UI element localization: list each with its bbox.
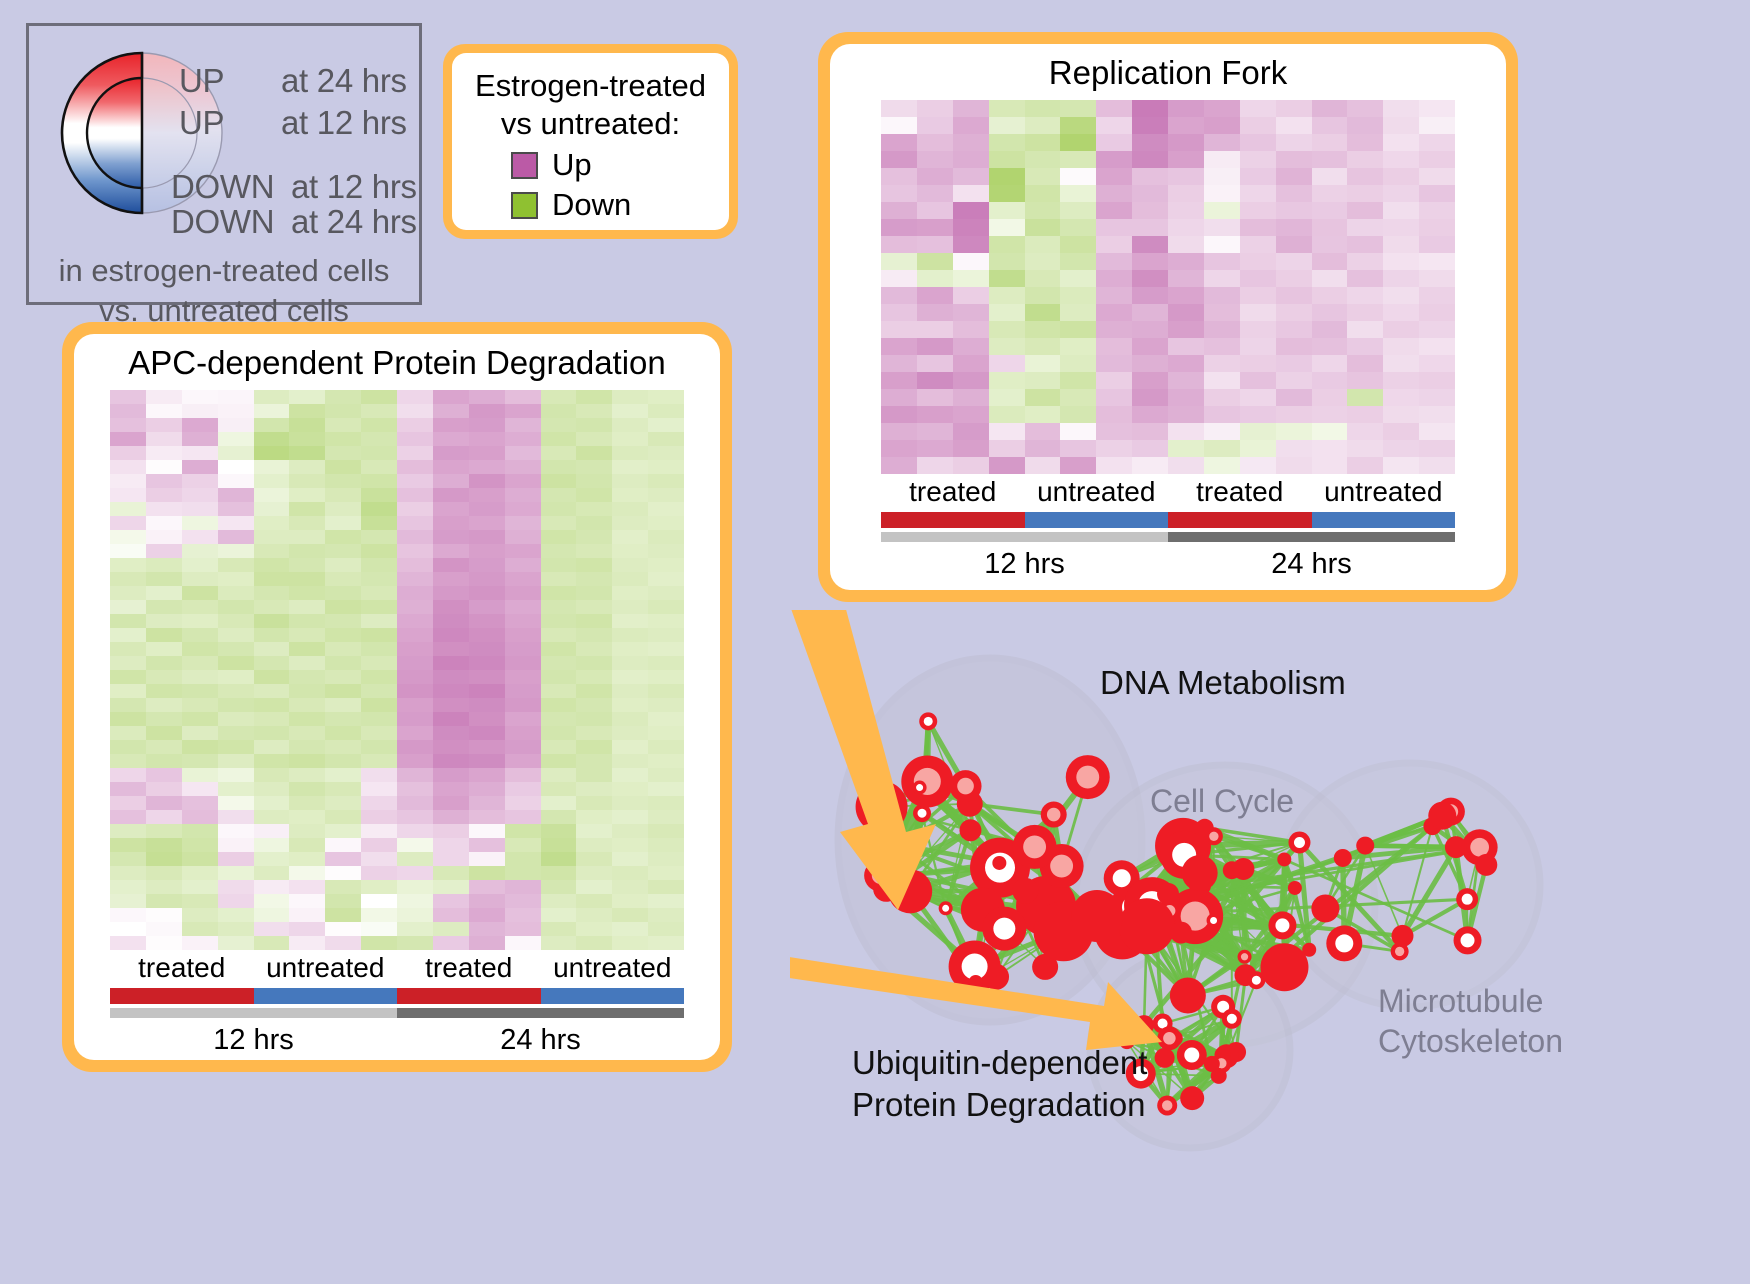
heatmap-cell [1204, 270, 1240, 287]
heatmap-cell [1025, 406, 1061, 423]
pathway-network-diagram [790, 610, 1750, 1279]
heatmap-cell [146, 390, 182, 404]
heatmap-cell [146, 474, 182, 488]
heatmap-cell [541, 502, 577, 516]
heatmap-cell [1276, 202, 1312, 219]
heatmap-cell [325, 530, 361, 544]
heatmap-cell [648, 446, 684, 460]
group-color-segment [254, 988, 398, 1004]
heatmap-cell [1347, 355, 1383, 372]
heatmap-cell [612, 488, 648, 502]
heatmap-cell [289, 740, 325, 754]
heatmap-cell [433, 488, 469, 502]
heatmap-cell [1096, 457, 1132, 474]
heatmap-cell [505, 796, 541, 810]
heatmap-cell [254, 642, 290, 656]
heatmap-cell [110, 810, 146, 824]
heatmap-cell [325, 740, 361, 754]
heatmap-cell [182, 488, 218, 502]
heatmap-cell [953, 355, 989, 372]
legend-label-down: Down [552, 187, 670, 223]
heatmap-cell [433, 796, 469, 810]
heatmap-cell [881, 406, 917, 423]
heatmap-cell [1168, 117, 1204, 134]
heatmap-cell [254, 684, 290, 698]
heatmap-cell [917, 236, 953, 253]
heatmap-cell [881, 338, 917, 355]
heatmap-cell [541, 544, 577, 558]
heatmap-cell [361, 488, 397, 502]
heatmap-cell [433, 670, 469, 684]
heatmap-cell [254, 726, 290, 740]
heatmap-cell [218, 390, 254, 404]
heatmap-cell [953, 287, 989, 304]
heatmap-cell [397, 754, 433, 768]
heatmap-cell [612, 460, 648, 474]
heatmap-cell [182, 922, 218, 936]
heatmap-cell [917, 406, 953, 423]
heatmap-cell [953, 389, 989, 406]
heatmap-cell [218, 936, 254, 950]
heatmap-cell [361, 628, 397, 642]
heatmap-cell [1347, 202, 1383, 219]
heatmap-cell [1312, 253, 1348, 270]
heatmap-cell [110, 796, 146, 810]
heatmap-cell [1419, 423, 1455, 440]
heatmap-cell [612, 796, 648, 810]
heatmap-cell [361, 754, 397, 768]
heatmap-cell [1383, 202, 1419, 219]
heatmap-cell [110, 838, 146, 852]
heatmap-cell [289, 572, 325, 586]
heatmap-cell [505, 474, 541, 488]
heatmap-cell [1025, 185, 1061, 202]
heatmap-cell [505, 880, 541, 894]
heatmap-cell [1204, 457, 1240, 474]
heatmap-cell [110, 684, 146, 698]
heatmap-cell [182, 544, 218, 558]
wheel-label-down-24: DOWN [171, 203, 274, 241]
heatmap-cell [505, 768, 541, 782]
heatmap-cell [1312, 423, 1348, 440]
heatmap-cell [953, 236, 989, 253]
heatmap-cell [1419, 151, 1455, 168]
heatmap-cell [989, 117, 1025, 134]
heatmap-cell [612, 474, 648, 488]
heatmap-cell [989, 253, 1025, 270]
heatmap-cell [881, 219, 917, 236]
heatmap-cell [505, 558, 541, 572]
heatmap-cell [1060, 117, 1096, 134]
heatmap-cell [397, 460, 433, 474]
heatmap-cell [361, 516, 397, 530]
heatmap-cell [433, 852, 469, 866]
heatmap-cell [433, 656, 469, 670]
heatmap-cell [989, 168, 1025, 185]
heatmap-cell [612, 768, 648, 782]
network-node-core [993, 918, 1015, 940]
heatmap-cell [1168, 168, 1204, 185]
heatmap-cell [361, 698, 397, 712]
heatmap-cell [182, 474, 218, 488]
heatmap-cell [505, 418, 541, 432]
heatmap-cell [469, 390, 505, 404]
network-node-core [1461, 933, 1475, 947]
heatmap-cell [361, 544, 397, 558]
heatmap-cell [1419, 440, 1455, 457]
network-node [1334, 849, 1352, 867]
heatmap-cell [397, 586, 433, 600]
heatmap-cell [146, 572, 182, 586]
heatmap-cell [576, 740, 612, 754]
heatmap-cell [289, 908, 325, 922]
heatmap-cell [289, 432, 325, 446]
heatmap-cell [1132, 134, 1168, 151]
heatmap-cell [254, 782, 290, 796]
heatmap-cell [146, 768, 182, 782]
heatmap-cell [953, 151, 989, 168]
heatmap-cell [1025, 372, 1061, 389]
timepoint-color-bar-replication [881, 532, 1455, 542]
network-node-core [1050, 855, 1073, 878]
heatmap-cell [433, 390, 469, 404]
heatmap-cell [146, 656, 182, 670]
heatmap-cell [1383, 287, 1419, 304]
heatmap-cell [325, 698, 361, 712]
heatmap-cell [469, 740, 505, 754]
heatmap-cell [361, 614, 397, 628]
heatmap-cell [1347, 457, 1383, 474]
heatmap-cell [469, 768, 505, 782]
heatmap-cell [325, 544, 361, 558]
heatmap-cell [146, 936, 182, 950]
heatmap-cell [469, 502, 505, 516]
heatmap-cell [469, 628, 505, 642]
heatmap-cell [1419, 134, 1455, 151]
heatmap-cell [505, 908, 541, 922]
heatmap-cell [1132, 389, 1168, 406]
heatmap-cell [1347, 134, 1383, 151]
heatmap-cell [953, 185, 989, 202]
heatmap-cell [218, 810, 254, 824]
heatmap-cell [325, 866, 361, 880]
heatmap-cell [953, 304, 989, 321]
heatmap-cell [289, 656, 325, 670]
heatmap-cell [541, 712, 577, 726]
heatmap-cell [254, 460, 290, 474]
heatmap-cell [648, 936, 684, 950]
heatmap-cell [254, 432, 290, 446]
heatmap-cell [289, 866, 325, 880]
heatmap-cell [917, 100, 953, 117]
heatmap-cell [1168, 134, 1204, 151]
heatmap-cell [612, 432, 648, 446]
heatmap-cell [289, 390, 325, 404]
heatmap-cell [1312, 406, 1348, 423]
heatmap-cell [289, 684, 325, 698]
heatmap-cell [397, 516, 433, 530]
heatmap-cell [1096, 338, 1132, 355]
heatmap-cell [1132, 253, 1168, 270]
heatmap-cell [433, 516, 469, 530]
heatmap-cell [541, 782, 577, 796]
heatmap-cell [1240, 287, 1276, 304]
heatmap-cell [1132, 236, 1168, 253]
heatmap-cell [254, 446, 290, 460]
heatmap-cell [989, 423, 1025, 440]
heatmap-cell [1312, 338, 1348, 355]
heatmap-cell [1240, 117, 1276, 134]
heatmap-cell [1383, 355, 1419, 372]
heatmap-cell [505, 740, 541, 754]
heatmap-cell [541, 684, 577, 698]
heatmap-cell [648, 558, 684, 572]
heatmap-cell [1312, 440, 1348, 457]
heatmap-cell [1096, 423, 1132, 440]
network-node-core [1227, 1014, 1237, 1024]
heatmap-cell [1347, 236, 1383, 253]
heatmap-cell [289, 712, 325, 726]
heatmap-cell [325, 558, 361, 572]
network-node-core [1162, 1100, 1172, 1110]
heatmap-cell [469, 922, 505, 936]
heatmap-cell [469, 586, 505, 600]
heatmap-cell [953, 100, 989, 117]
heatmap-cell [1168, 338, 1204, 355]
heatmap-cell [1060, 372, 1096, 389]
heatmap-cell [612, 530, 648, 544]
group-labels-replication: treateduntreatedtreateduntreated [881, 474, 1455, 510]
heatmap-cell [1347, 287, 1383, 304]
heatmap-cell [576, 894, 612, 908]
network-node [1155, 1048, 1175, 1068]
heatmap-cell [110, 628, 146, 642]
heatmap-cell [218, 894, 254, 908]
timepoint-color-segment [1168, 532, 1455, 542]
heatmap-cell [612, 544, 648, 558]
heatmap-cell [218, 712, 254, 726]
heatmap-cell [1025, 457, 1061, 474]
heatmap-cell [218, 684, 254, 698]
heatmap-cell [1240, 440, 1276, 457]
heatmap-cell [1025, 355, 1061, 372]
heatmap-cell [953, 253, 989, 270]
heatmap-cell [648, 530, 684, 544]
heatmap-cell [182, 558, 218, 572]
group-color-segment [1025, 512, 1169, 528]
heatmap-cell [433, 866, 469, 880]
heatmap-cell [1383, 338, 1419, 355]
heatmap-cell [218, 488, 254, 502]
network-node [1157, 883, 1179, 905]
heatmap-cell [397, 488, 433, 502]
heatmap-cell [1276, 270, 1312, 287]
heatmap-cell [469, 474, 505, 488]
heatmap-cell [1312, 151, 1348, 168]
heatmap-cell [110, 544, 146, 558]
heatmap-cell [1168, 219, 1204, 236]
heatmap-cell [182, 726, 218, 740]
heatmap-cell [505, 782, 541, 796]
heatmap-cell [182, 432, 218, 446]
heatmap-cell [1204, 236, 1240, 253]
heatmap-cell [146, 796, 182, 810]
heatmap-cell [1060, 202, 1096, 219]
network-node [1288, 881, 1302, 895]
heatmap-cell [1060, 406, 1096, 423]
network-node-core [1163, 1032, 1175, 1044]
heatmap-cell [1096, 270, 1132, 287]
heatmap-cell [541, 768, 577, 782]
heatmap-cell [917, 253, 953, 270]
heatmap-cell [397, 796, 433, 810]
network-node-core [1275, 918, 1289, 932]
heatmap-cell [541, 516, 577, 530]
heatmap-cell [289, 670, 325, 684]
heatmap-cell [541, 670, 577, 684]
heatmap-cell [182, 656, 218, 670]
panel-replication-fork: Replication Fork treateduntreatedtreated… [818, 32, 1518, 602]
heatmap-cell [576, 628, 612, 642]
heatmap-cell [397, 908, 433, 922]
heatmap-cell [1096, 117, 1132, 134]
heatmap-cell [361, 502, 397, 516]
heatmap-cell [648, 824, 684, 838]
heatmap-cell [361, 642, 397, 656]
heatmap-cell [218, 502, 254, 516]
heatmap-cell [1132, 321, 1168, 338]
heatmap-cell [881, 168, 917, 185]
heatmap-cell [218, 516, 254, 530]
heatmap-cell [1025, 253, 1061, 270]
heatmap-cell [953, 440, 989, 457]
heatmap-cell [612, 782, 648, 796]
heatmap-cell [182, 586, 218, 600]
heatmap-cell [648, 586, 684, 600]
heatmap-cell [182, 572, 218, 586]
heatmap-cell [989, 202, 1025, 219]
heatmap-cell [433, 586, 469, 600]
heatmap-cell [541, 908, 577, 922]
heatmap-cell [505, 936, 541, 950]
heatmap-cell [361, 670, 397, 684]
heatmap-cell [576, 922, 612, 936]
heatmap-cell [953, 219, 989, 236]
heatmap-cell [1240, 185, 1276, 202]
heatmap-cell [218, 880, 254, 894]
heatmap-cell [576, 572, 612, 586]
heatmap-cell [182, 446, 218, 460]
heatmap-cell [397, 404, 433, 418]
heatmap-cell [917, 440, 953, 457]
heatmap-cell [218, 600, 254, 614]
heatmap-cell [182, 712, 218, 726]
heatmap-cell [146, 628, 182, 642]
legend-item-up: Up [470, 147, 711, 183]
heatmap-cell [469, 852, 505, 866]
heatmap-cell [289, 796, 325, 810]
heatmap-cell [289, 698, 325, 712]
heatmap-cell [1240, 406, 1276, 423]
heatmap-cell [469, 642, 505, 656]
heatmap-cell [612, 866, 648, 880]
heatmap-cell [953, 406, 989, 423]
heatmap-cell [361, 684, 397, 698]
heatmap-cell [254, 670, 290, 684]
heatmap-cell [182, 824, 218, 838]
heatmap-cell [648, 670, 684, 684]
heatmap-cell [146, 432, 182, 446]
network-node [1182, 855, 1218, 891]
heatmap-cell [505, 502, 541, 516]
heatmap-cell [110, 768, 146, 782]
heatmap-cell [953, 321, 989, 338]
heatmap-cell [469, 656, 505, 670]
heatmap-cell [1025, 423, 1061, 440]
expression-wheel-legend: UP at 24 hrs UP at 12 hrs DOWN at 12 hrs… [26, 23, 422, 305]
heatmap-cell [218, 656, 254, 670]
heatmap-cell [254, 488, 290, 502]
heatmap-cell [1096, 389, 1132, 406]
up-color-swatch [511, 152, 538, 179]
network-node [1311, 894, 1339, 922]
network-node-core [916, 784, 923, 791]
heatmap-cell [433, 922, 469, 936]
heatmap-cell [1168, 185, 1204, 202]
heatmap-cell [182, 600, 218, 614]
heatmap-cell [361, 726, 397, 740]
heatmap-cell [218, 754, 254, 768]
heatmap-cell [612, 838, 648, 852]
heatmap-cell [361, 894, 397, 908]
heatmap-cell [1096, 287, 1132, 304]
heatmap-cell [1419, 287, 1455, 304]
heatmap-cell [110, 936, 146, 950]
heatmap-cell [182, 684, 218, 698]
heatmap-cell [1025, 219, 1061, 236]
heatmap-cell [1276, 100, 1312, 117]
heatmap-cell [289, 922, 325, 936]
heatmap-cell [146, 418, 182, 432]
heatmap-cell [254, 502, 290, 516]
heatmap-cell [648, 628, 684, 642]
heatmap-cell [469, 782, 505, 796]
heatmap-cell [1096, 372, 1132, 389]
heatmap-cell [469, 726, 505, 740]
heatmap-cell [1347, 253, 1383, 270]
heatmap-cell [1132, 372, 1168, 389]
heatmap-cell [576, 670, 612, 684]
heatmap-cell [1312, 355, 1348, 372]
heatmap-cell [917, 134, 953, 151]
heatmap-cell [254, 558, 290, 572]
heatmap-cell [1383, 423, 1419, 440]
heatmap-cell [648, 432, 684, 446]
heatmap-cell [182, 838, 218, 852]
heatmap-cell [146, 530, 182, 544]
network-node-core [1076, 766, 1099, 789]
heatmap-cell [110, 572, 146, 586]
heatmap-cell [1240, 457, 1276, 474]
heatmap-cell [1383, 440, 1419, 457]
heatmap-cell [110, 530, 146, 544]
heatmap-cell [576, 824, 612, 838]
heatmap-cell [146, 894, 182, 908]
heatmap-cell [1419, 253, 1455, 270]
heatmap-cell [254, 712, 290, 726]
heatmap-cell [110, 782, 146, 796]
heatmap-cell [397, 432, 433, 446]
